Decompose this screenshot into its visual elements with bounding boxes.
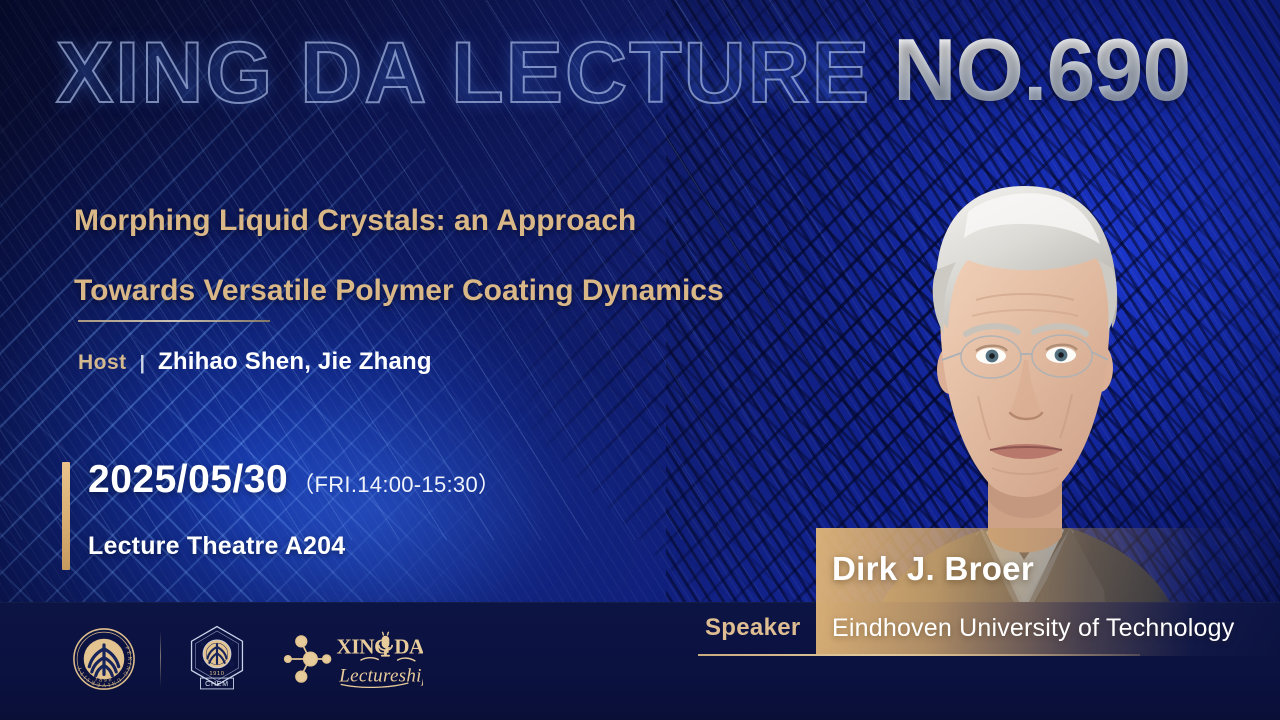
speaker-name: Dirk J. Broer xyxy=(832,550,1034,588)
svg-text:化: 化 xyxy=(200,641,205,648)
date-line: 2025/05/30 （FRI.14:00-15:30） xyxy=(88,458,500,502)
logo-divider xyxy=(160,631,161,687)
talk-title: Morphing Liquid Crystals: an Approach To… xyxy=(74,186,904,326)
lecture-date: 2025/05/30 xyxy=(88,458,288,502)
lecture-series-title: XING DA LECTURE xyxy=(56,30,871,116)
svg-text:学: 学 xyxy=(200,661,205,667)
lecture-day-time: （FRI.14:00-15:30） xyxy=(292,467,500,499)
host-row: Host | Zhihao Shen, Jie Zhang xyxy=(78,348,432,376)
svg-text:院: 院 xyxy=(230,661,235,668)
speaker-label: Speaker xyxy=(705,614,801,642)
pku-chemistry-seal-logo: 化 学 学 院 1910 CHEM xyxy=(185,624,249,694)
svg-text:1910: 1910 xyxy=(209,671,224,677)
lecture-poster: XING DA LECTURE NO.690 Morphing Liquid C… xyxy=(0,0,1280,720)
title-divider-rule xyxy=(78,320,270,322)
svg-text:DA: DA xyxy=(394,634,423,658)
lecture-issue-number: NO.690 xyxy=(893,26,1190,114)
organization-logos: PEKING UNIVERSITY 1898 化 学 xyxy=(72,624,423,694)
svg-text:CHEM: CHEM xyxy=(205,681,229,688)
speaker-underline-rule xyxy=(698,654,1140,656)
talk-title-line-1: Morphing Liquid Crystals: an Approach xyxy=(74,186,904,256)
svg-text:Lectureship: Lectureship xyxy=(338,666,423,687)
poster-header: XING DA LECTURE NO.690 xyxy=(0,14,1280,126)
gold-accent-bar xyxy=(62,462,70,570)
peking-university-seal-logo: PEKING UNIVERSITY 1898 xyxy=(72,627,136,691)
host-label: Host xyxy=(78,351,127,375)
host-names: Zhihao Shen, Jie Zhang xyxy=(158,348,432,376)
host-separator: | xyxy=(140,353,145,375)
xing-da-lectureship-logo: XING DA Lectureship xyxy=(281,628,423,690)
lecture-venue: Lecture Theatre A204 xyxy=(88,532,345,561)
speaker-block: Dirk J. Broer Speaker Eindhoven Universi… xyxy=(680,536,1280,686)
talk-title-line-2: Towards Versatile Polymer Coating Dynami… xyxy=(74,256,904,326)
speaker-affiliation: Eindhoven University of Technology xyxy=(832,614,1234,643)
svg-text:学: 学 xyxy=(230,641,235,647)
